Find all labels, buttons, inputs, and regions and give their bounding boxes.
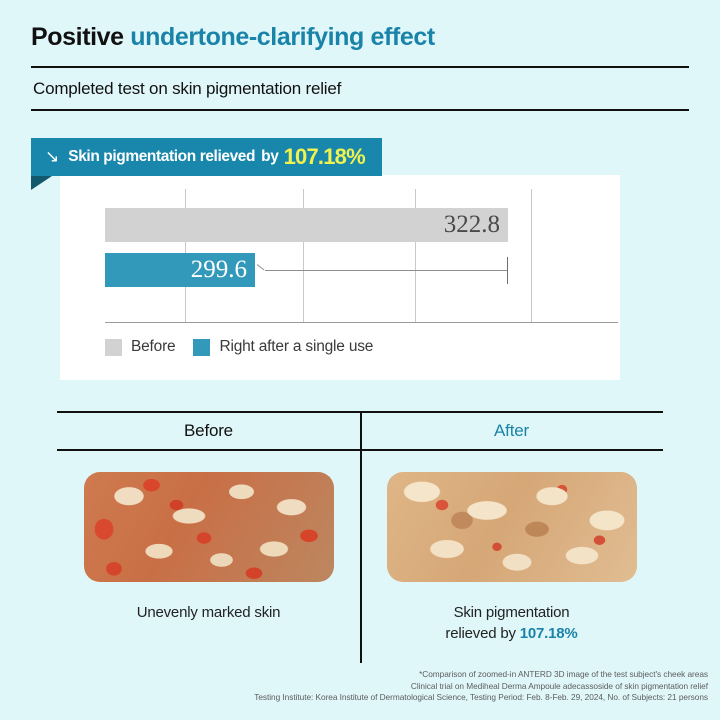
comparison-cell-before: Unevenly marked skin (57, 451, 360, 644)
comparison-cell-after: Skin pigmentation relieved by 107.18% (360, 451, 663, 644)
chart-card: 322.8 299.6 Before Right after a single … (60, 175, 620, 380)
page-header: Positive undertone-clarifying effect Com… (31, 22, 689, 111)
result-badge: ↘ Skin pigmentation relieved by 107.18% (31, 138, 382, 190)
header-divider-bottom (31, 109, 689, 111)
result-badge-tail (31, 176, 52, 190)
page-subtitle: Completed test on skin pigmentation reli… (31, 68, 689, 109)
bar-before-value: 322.8 (444, 211, 508, 239)
comparison-caption-after-line1: Skin pigmentation (454, 604, 570, 621)
footnote-line-1: *Comparison of zoomed-in ANTERD 3D image… (254, 669, 708, 681)
comparison-caption-after: Skin pigmentation relieved by 107.18% (445, 602, 577, 644)
legend-swatch-after (193, 339, 210, 356)
difference-whisker-cap (507, 257, 508, 284)
footnote-line-3: Testing Institute: Korea Institute of De… (254, 692, 708, 704)
arrow-down-right-icon: ↘ (45, 149, 59, 166)
legend-item-after: Right after a single use (193, 338, 373, 356)
page-title-plain: Positive (31, 23, 124, 51)
comparison-header-before: Before (57, 413, 360, 449)
footnote: *Comparison of zoomed-in ANTERD 3D image… (254, 669, 708, 704)
comparison-caption-after-percent: 107.18% (520, 625, 578, 642)
page-title: Positive undertone-clarifying effect (31, 22, 689, 52)
bar-before: 322.8 (105, 208, 508, 242)
comparison-caption-before: Unevenly marked skin (137, 602, 281, 623)
chart-baseline-axis (105, 322, 618, 323)
difference-whisker-arrowhead (257, 264, 265, 270)
result-badge-body: ↘ Skin pigmentation relieved by 107.18% (31, 138, 382, 176)
difference-whisker-line (265, 270, 508, 271)
legend-label-before: Before (131, 338, 175, 356)
result-badge-text: Skin pigmentation relieved (68, 148, 255, 166)
skin-photo-after (387, 472, 637, 582)
footnote-line-2: Clinical trial on Mediheal Derma Ampoule… (254, 681, 708, 693)
comparison-vertical-divider (360, 413, 362, 663)
page-title-accent: undertone-clarifying effect (130, 23, 435, 51)
gridline-4 (531, 189, 532, 322)
comparison-caption-after-line2: relieved by (445, 625, 519, 642)
bar-after: 299.6 (105, 253, 255, 287)
legend-swatch-before (105, 339, 122, 356)
chart-plot-area: 322.8 299.6 (105, 175, 620, 322)
comparison-header-after: After (360, 413, 663, 449)
chart-legend: Before Right after a single use (105, 338, 391, 356)
result-badge-by: by (261, 148, 279, 166)
comparison-section: Before After Unevenly marked skin Skin p… (57, 411, 663, 644)
legend-item-before: Before (105, 338, 175, 356)
legend-label-after: Right after a single use (219, 338, 373, 356)
result-badge-percent: 107.18% (284, 144, 365, 170)
skin-photo-before (84, 472, 334, 582)
bar-after-value: 299.6 (191, 256, 255, 284)
